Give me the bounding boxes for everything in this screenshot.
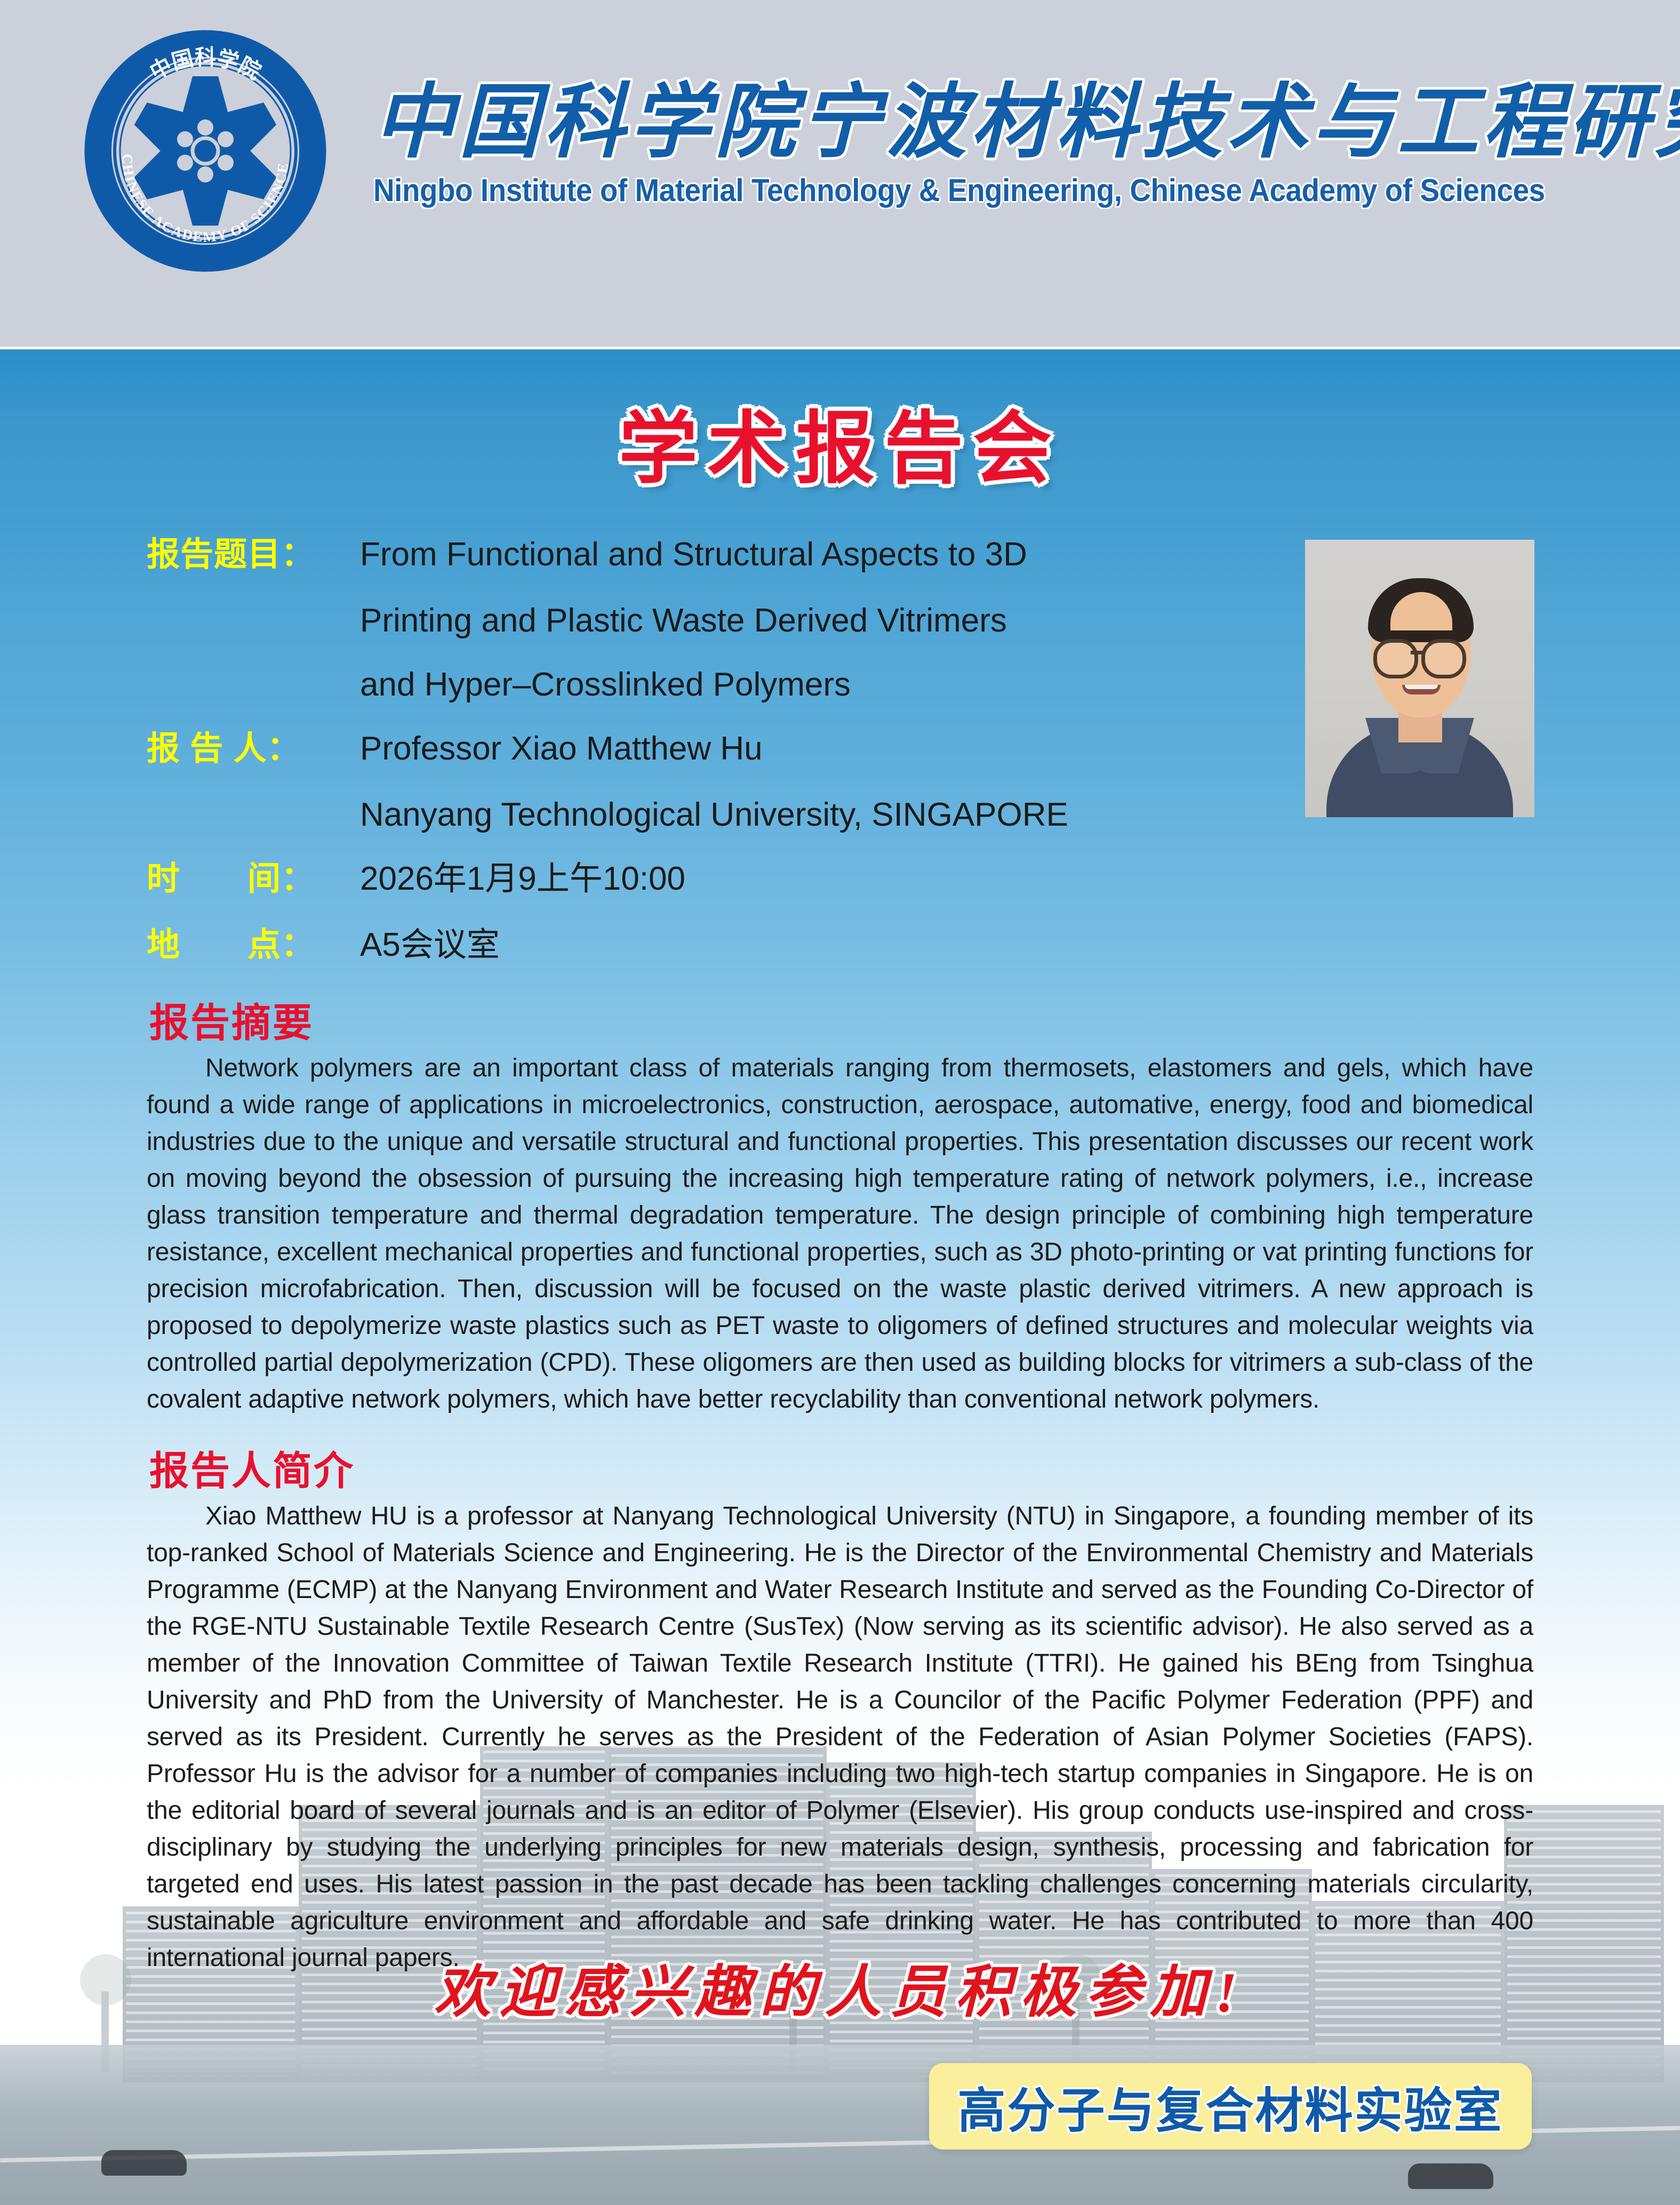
info-label-talk-title: 报告题目： <box>147 523 360 587</box>
page-title: 学术报告会 <box>0 384 1680 499</box>
institute-name-block: 中国科学院宁波材料技术与工程研究所 Ningbo Institute of Ma… <box>373 80 1611 209</box>
info-value-speaker-affiliation: Nanyang Technological University, SINGAP… <box>360 783 1384 847</box>
welcome-message: 欢迎感兴趣的人员积极参加! <box>0 1946 1680 2028</box>
institute-header: 中国科学院 CHINESE ACADEMY OF SCIENCES 中国科学院宁… <box>0 0 1680 349</box>
institute-name-cn: 中国科学院宁波材料技术与工程研究所 <box>373 80 1611 166</box>
seminar-poster: 中国科学院 CHINESE ACADEMY OF SCIENCES 中国科学院宁… <box>0 0 1680 2205</box>
biography-heading: 报告人简介 <box>149 1439 355 1496</box>
info-label-speaker: 报 告 人： <box>147 717 360 781</box>
institute-name-en: Ningbo Institute of Material Technology … <box>373 172 1524 209</box>
abstract-body: Network polymers are an important class … <box>147 1050 1533 1418</box>
info-row-talk-title: 报告题目： From Functional and Structural Asp… <box>147 523 1384 587</box>
info-label-venue: 地 点： <box>147 913 360 977</box>
abstract-heading: 报告摘要 <box>149 991 314 1048</box>
info-row-venue: 地 点： A5会议室 <box>147 913 1384 977</box>
info-label-time: 时 间： <box>147 847 360 911</box>
talk-info-block: 报告题目： From Functional and Structural Asp… <box>147 523 1384 979</box>
info-row-speaker: 报 告 人： Professor Xiao Matthew Hu <box>147 717 1384 781</box>
biography-body: Xiao Matthew HU is a professor at Nanyan… <box>147 1498 1533 1976</box>
info-value-venue: A5会议室 <box>360 913 1384 977</box>
info-value-talk-title: From Functional and Structural Aspects t… <box>360 523 1384 587</box>
lab-badge: 高分子与复合材料实验室 <box>929 2063 1532 2150</box>
info-value-time: 2026年1月9上午10:00 <box>360 847 1384 911</box>
info-row-time: 时 间： 2026年1月9上午10:00 <box>147 847 1384 911</box>
cas-logo-svg: 中国科学院 CHINESE ACADEMY OF SCIENCES <box>80 26 331 276</box>
info-value-talk-title-line3: and Hyper–Crosslinked Polymers <box>360 653 1384 717</box>
info-value-talk-title-line2: Printing and Plastic Waste Derived Vitri… <box>360 589 1384 653</box>
lab-badge-label: 高分子与复合材料实验室 <box>958 2072 1503 2141</box>
info-value-speaker: Professor Xiao Matthew Hu <box>360 717 1384 781</box>
cas-logo: 中国科学院 CHINESE ACADEMY OF SCIENCES <box>80 26 331 276</box>
